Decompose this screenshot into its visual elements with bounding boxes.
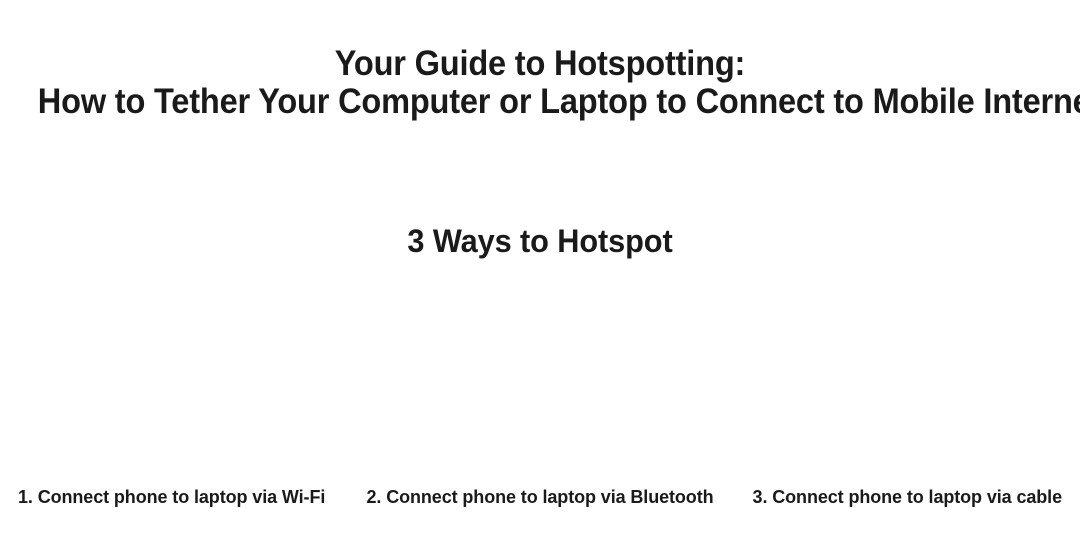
method-caption-wifi: 1. Connect phone to laptop via Wi-Fi [0, 486, 360, 508]
method-caption-label: 3. Connect phone to laptop via cable [753, 487, 1062, 507]
page-title-line-2: How to Tether Your Computer or Laptop to… [38, 83, 1042, 121]
page-title-line-1: Your Guide to Hotspotting: [38, 45, 1042, 83]
method-caption-label: 2. Connect phone to laptop via Bluetooth [367, 487, 714, 507]
page-title: Your Guide to Hotspotting: How to Tether… [0, 45, 1080, 121]
section-heading: 3 Ways to Hotspot [22, 222, 1059, 260]
method-caption-row: 1. Connect phone to laptop via Wi-Fi 2. … [0, 486, 1080, 514]
method-illustration-cable [720, 282, 1080, 478]
method-illustration-row [0, 282, 1080, 478]
method-illustration-wifi [0, 282, 360, 478]
infographic-page: Your Guide to Hotspotting: How to Tether… [0, 0, 1080, 552]
method-caption-label: 1. Connect phone to laptop via Wi-Fi [18, 487, 325, 507]
method-caption-bluetooth: 2. Connect phone to laptop via Bluetooth [360, 486, 720, 508]
method-illustration-bluetooth [360, 282, 720, 478]
method-caption-cable: 3. Connect phone to laptop via cable [720, 486, 1080, 508]
